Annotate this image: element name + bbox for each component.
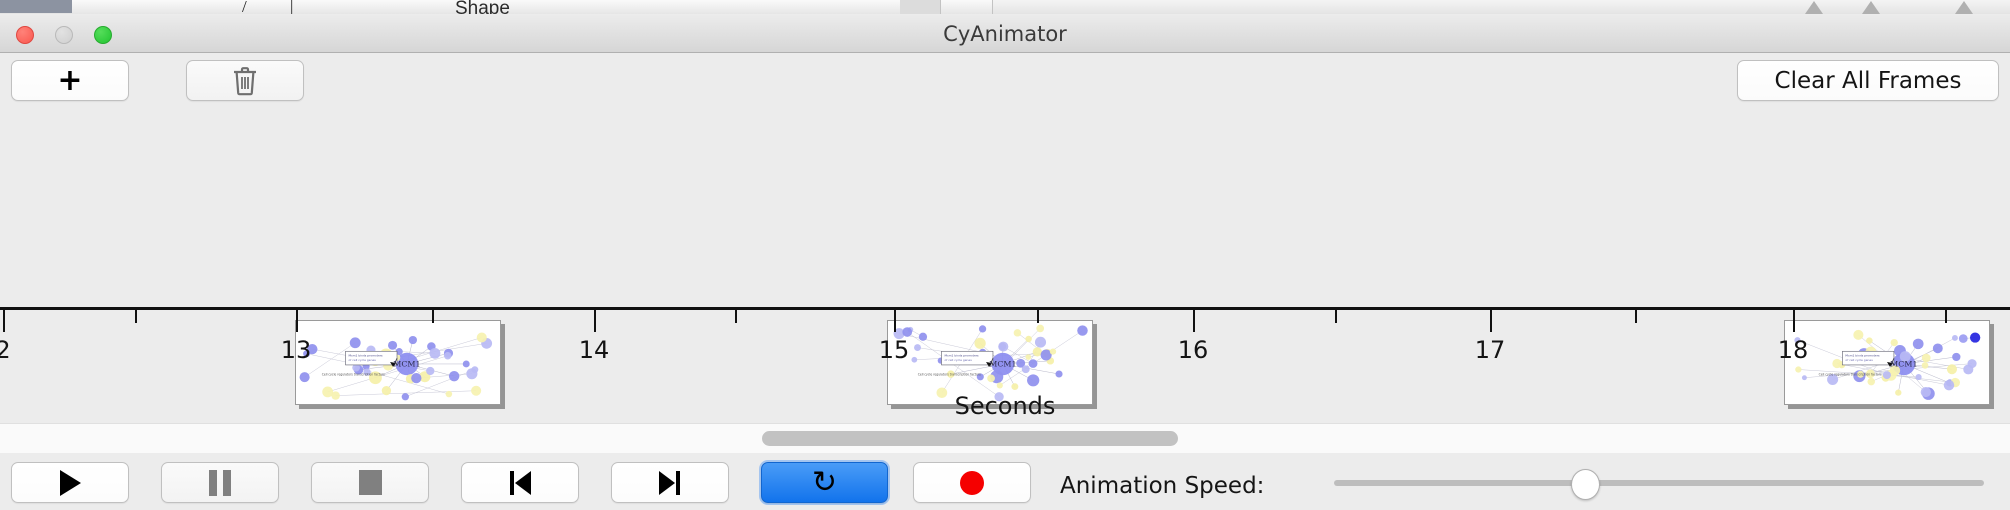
axis-tick [432,310,434,323]
svg-text:MCM1: MCM1 [393,360,420,369]
timeline-axis [0,307,2010,310]
svg-text:Cell cycle regulators transcri: Cell cycle regulators transcription fact… [1819,373,1882,377]
skip-back-button[interactable] [461,462,579,503]
timeline-scrollbar[interactable] [0,423,2010,454]
stop-icon [359,470,382,495]
skip-back-icon [507,470,533,496]
background-triangle-icon [1955,1,1973,14]
axis-tick [1945,310,1947,323]
add-frame-button[interactable]: + [11,60,129,101]
record-icon [960,471,984,495]
slider-track [1334,480,1984,486]
axis-tick [1635,310,1637,323]
playback-control-bar: ↻ Animation Speed: [0,453,2010,510]
svg-text:of cell cycle genes: of cell cycle genes [348,358,376,362]
play-button[interactable] [11,462,129,503]
svg-text:MCM1: MCM1 [989,360,1016,369]
skip-forward-button[interactable] [611,462,729,503]
svg-text:of cell cycle genes: of cell cycle genes [944,358,972,362]
play-icon [60,470,81,496]
record-button[interactable] [913,462,1031,503]
background-segment [72,0,183,14]
background-segment [182,0,235,14]
background-window-sidebar [0,0,72,13]
background-window-label: Shape [455,0,510,15]
axis-tick [1037,310,1039,323]
cyanimator-window: / | Shape CyAnimator + Clear All Frames [0,0,2010,510]
axis-tick [3,310,5,332]
timeline-panel[interactable]: Mcm1 binds promotersof cell cycle genesC… [0,108,2010,423]
animation-speed-slider[interactable] [1334,462,1984,503]
axis-tick-label: 13 [281,336,312,364]
axis-tick-label: 17 [1475,336,1506,364]
axis-tick [1193,310,1195,332]
svg-text:Cell cycle regulators transcri: Cell cycle regulators transcription fact… [918,373,981,377]
title-bar: CyAnimator [0,14,2010,53]
axis-tick [594,310,596,332]
window-title: CyAnimator [0,22,2010,46]
clear-all-frames-button[interactable]: Clear All Frames [1737,60,1999,101]
axis-tick-label: 16 [1178,336,1209,364]
axis-tick [1793,310,1795,332]
axis-tick-label: 15 [879,336,910,364]
background-segment [296,0,363,14]
slider-knob[interactable] [1571,469,1600,500]
loop-button[interactable]: ↻ [761,462,888,503]
axis-tick [135,310,137,323]
axis-tick [735,310,737,323]
axis-title: Seconds [0,392,2010,420]
scrollbar-thumb[interactable] [762,431,1178,446]
frame-toolbar: + Clear All Frames [0,53,2010,109]
axis-tick-label: 18 [1778,336,1809,364]
svg-text:MCM1: MCM1 [1890,360,1917,369]
background-triangle-icon [1862,1,1880,14]
svg-text:Cell cycle regulators transcri: Cell cycle regulators transcription fact… [322,373,385,377]
background-segment [900,0,941,14]
plus-icon: + [57,66,82,96]
axis-tick [894,310,896,332]
animation-speed-label: Animation Speed: [1060,473,1264,499]
svg-text:of cell cycle genes: of cell cycle genes [1845,358,1873,362]
trash-icon [232,66,258,96]
skip-forward-icon [657,470,683,496]
pause-icon [209,470,231,496]
axis-tick [296,310,298,332]
stop-button[interactable] [311,462,429,503]
axis-tick-label: 14 [579,336,610,364]
background-triangle-icon [1805,1,1823,14]
pause-button[interactable] [161,462,279,503]
axis-tick-label: 2 [0,336,11,364]
background-glyph: | [290,0,293,15]
axis-tick [1335,310,1337,323]
axis-tick [1490,310,1492,332]
background-window-strip: / | Shape [0,0,2010,15]
loop-icon: ↻ [812,468,837,498]
delete-frame-button[interactable] [186,60,304,101]
background-glyph: / [242,0,247,15]
